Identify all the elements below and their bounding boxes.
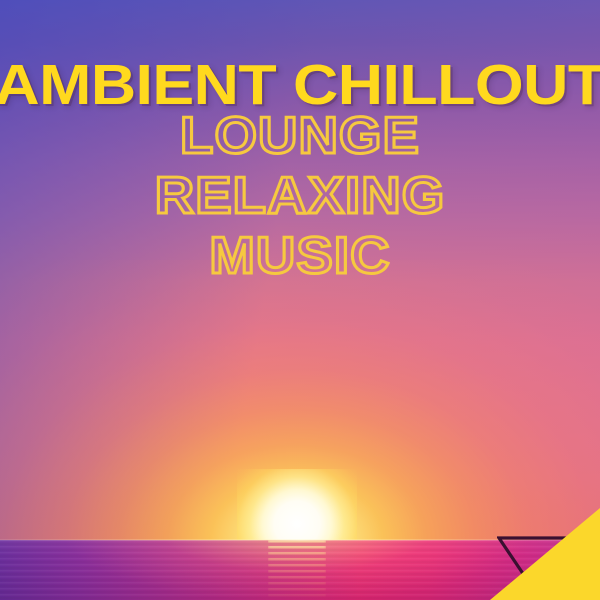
album-cover-artwork: AMBIENT CHILLOUT LOUNGE RELAXING MUSIC — [0, 0, 600, 600]
sun-reflection-on-water — [268, 540, 326, 600]
album-subtitle-line-1: LOUNGE — [0, 110, 600, 162]
album-subtitle-line-3: MUSIC — [0, 230, 600, 282]
album-subtitle-line-2: RELAXING — [0, 170, 600, 222]
album-title-main: AMBIENT CHILLOUT — [0, 57, 600, 114]
ocean-water — [0, 540, 600, 600]
